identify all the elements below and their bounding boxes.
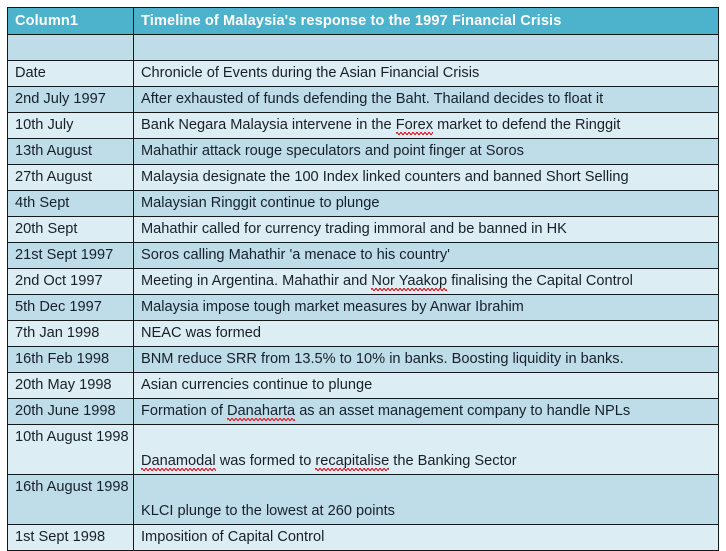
cell-event[interactable]: Malaysia impose tough market measures by… bbox=[134, 295, 719, 321]
cell-date[interactable]: 27th August bbox=[8, 165, 134, 191]
table-row[interactable]: 16th August 1998KLCI plunge to the lowes… bbox=[8, 475, 719, 525]
spreadsheet-canvas: Column1 Timeline of Malaysia's response … bbox=[0, 0, 726, 525]
table-spacer-row bbox=[8, 35, 719, 61]
table-row[interactable]: 7th Jan 1998NEAC was formed bbox=[8, 321, 719, 347]
spellcheck-underline: recapitalise bbox=[315, 453, 389, 471]
cell-event[interactable]: Imposition of Capital Control bbox=[134, 525, 719, 551]
cell-date[interactable]: 2nd July 1997 bbox=[8, 87, 134, 113]
cell-date[interactable]: 2nd Oct 1997 bbox=[8, 269, 134, 295]
cell-date[interactable]: 10th July bbox=[8, 113, 134, 139]
cell-event[interactable]: Soros calling Mahathir 'a menace to his … bbox=[134, 243, 719, 269]
cell-date[interactable]: 20th Sept bbox=[8, 217, 134, 243]
table-row[interactable]: DateChronicle of Events during the Asian… bbox=[8, 61, 719, 87]
spellcheck-underline: Forex bbox=[396, 117, 433, 135]
table-row[interactable]: 20th SeptMahathir called for currency tr… bbox=[8, 217, 719, 243]
cell-event[interactable]: NEAC was formed bbox=[134, 321, 719, 347]
cell-date[interactable]: 20th May 1998 bbox=[8, 373, 134, 399]
cell-event[interactable]: After exhausted of funds defending the B… bbox=[134, 87, 719, 113]
cell-date[interactable]: 10th August 1998 bbox=[8, 425, 134, 475]
table-row[interactable]: 21st Sept 1997Soros calling Mahathir 'a … bbox=[8, 243, 719, 269]
table-row[interactable]: 20th May 1998Asian currencies continue t… bbox=[8, 373, 719, 399]
table-row[interactable]: 2nd July 1997After exhausted of funds de… bbox=[8, 87, 719, 113]
table-row[interactable]: 20th June 1998Formation of Danaharta as … bbox=[8, 399, 719, 425]
table-row[interactable]: 10th JulyBank Negara Malaysia intervene … bbox=[8, 113, 719, 139]
cell-date[interactable]: 16th August 1998 bbox=[8, 475, 134, 525]
table-row[interactable]: 16th Feb 1998BNM reduce SRR from 13.5% t… bbox=[8, 347, 719, 373]
cell-event[interactable]: Formation of Danaharta as an asset manag… bbox=[134, 399, 719, 425]
cell-date[interactable]: 21st Sept 1997 bbox=[8, 243, 134, 269]
cell-date[interactable]: 5th Dec 1997 bbox=[8, 295, 134, 321]
cell-date[interactable]: 16th Feb 1998 bbox=[8, 347, 134, 373]
cell-event[interactable]: Mahathir called for currency trading imm… bbox=[134, 217, 719, 243]
table-header-row: Column1 Timeline of Malaysia's response … bbox=[8, 8, 719, 35]
table-row[interactable]: 27th AugustMalaysia designate the 100 In… bbox=[8, 165, 719, 191]
spacer-cell-date[interactable] bbox=[8, 35, 134, 61]
table-body: DateChronicle of Events during the Asian… bbox=[8, 35, 719, 551]
column-header-timeline[interactable]: Timeline of Malaysia's response to the 1… bbox=[134, 8, 719, 35]
table-row[interactable]: 10th August 1998Danamodal was formed to … bbox=[8, 425, 719, 475]
cell-event[interactable]: Chronicle of Events during the Asian Fin… bbox=[134, 61, 719, 87]
cell-date[interactable]: 7th Jan 1998 bbox=[8, 321, 134, 347]
table-row[interactable]: 5th Dec 1997Malaysia impose tough market… bbox=[8, 295, 719, 321]
spellcheck-underline: Nor Yaakop bbox=[371, 273, 447, 291]
table-row[interactable]: 13th AugustMahathir attack rouge specula… bbox=[8, 139, 719, 165]
spellcheck-underline: Danamodal bbox=[141, 453, 216, 471]
cell-event[interactable]: Malaysia designate the 100 Index linked … bbox=[134, 165, 719, 191]
cell-date[interactable]: 13th August bbox=[8, 139, 134, 165]
cell-date[interactable]: 20th June 1998 bbox=[8, 399, 134, 425]
cell-date[interactable]: 4th Sept bbox=[8, 191, 134, 217]
cell-date[interactable]: Date bbox=[8, 61, 134, 87]
table-row[interactable]: 2nd Oct 1997Meeting in Argentina. Mahath… bbox=[8, 269, 719, 295]
cell-event[interactable]: Malaysian Ringgit continue to plunge bbox=[134, 191, 719, 217]
cell-event[interactable]: Bank Negara Malaysia intervene in the Fo… bbox=[134, 113, 719, 139]
cell-event[interactable]: Mahathir attack rouge speculators and po… bbox=[134, 139, 719, 165]
cell-event[interactable]: Meeting in Argentina. Mahathir and Nor Y… bbox=[134, 269, 719, 295]
cell-event[interactable]: Danamodal was formed to recapitalise the… bbox=[134, 425, 719, 475]
spellcheck-underline: Danaharta bbox=[227, 403, 295, 421]
column-header-date[interactable]: Column1 bbox=[8, 8, 134, 35]
cell-date[interactable]: 1st Sept 1998 bbox=[8, 525, 134, 551]
table-row[interactable]: 4th SeptMalaysian Ringgit continue to pl… bbox=[8, 191, 719, 217]
timeline-table: Column1 Timeline of Malaysia's response … bbox=[7, 7, 719, 551]
table-row[interactable]: 1st Sept 1998Imposition of Capital Contr… bbox=[8, 525, 719, 551]
spacer-cell-event[interactable] bbox=[134, 35, 719, 61]
cell-event[interactable]: KLCI plunge to the lowest at 260 points bbox=[134, 475, 719, 525]
cell-event[interactable]: BNM reduce SRR from 13.5% to 10% in bank… bbox=[134, 347, 719, 373]
cell-event[interactable]: Asian currencies continue to plunge bbox=[134, 373, 719, 399]
